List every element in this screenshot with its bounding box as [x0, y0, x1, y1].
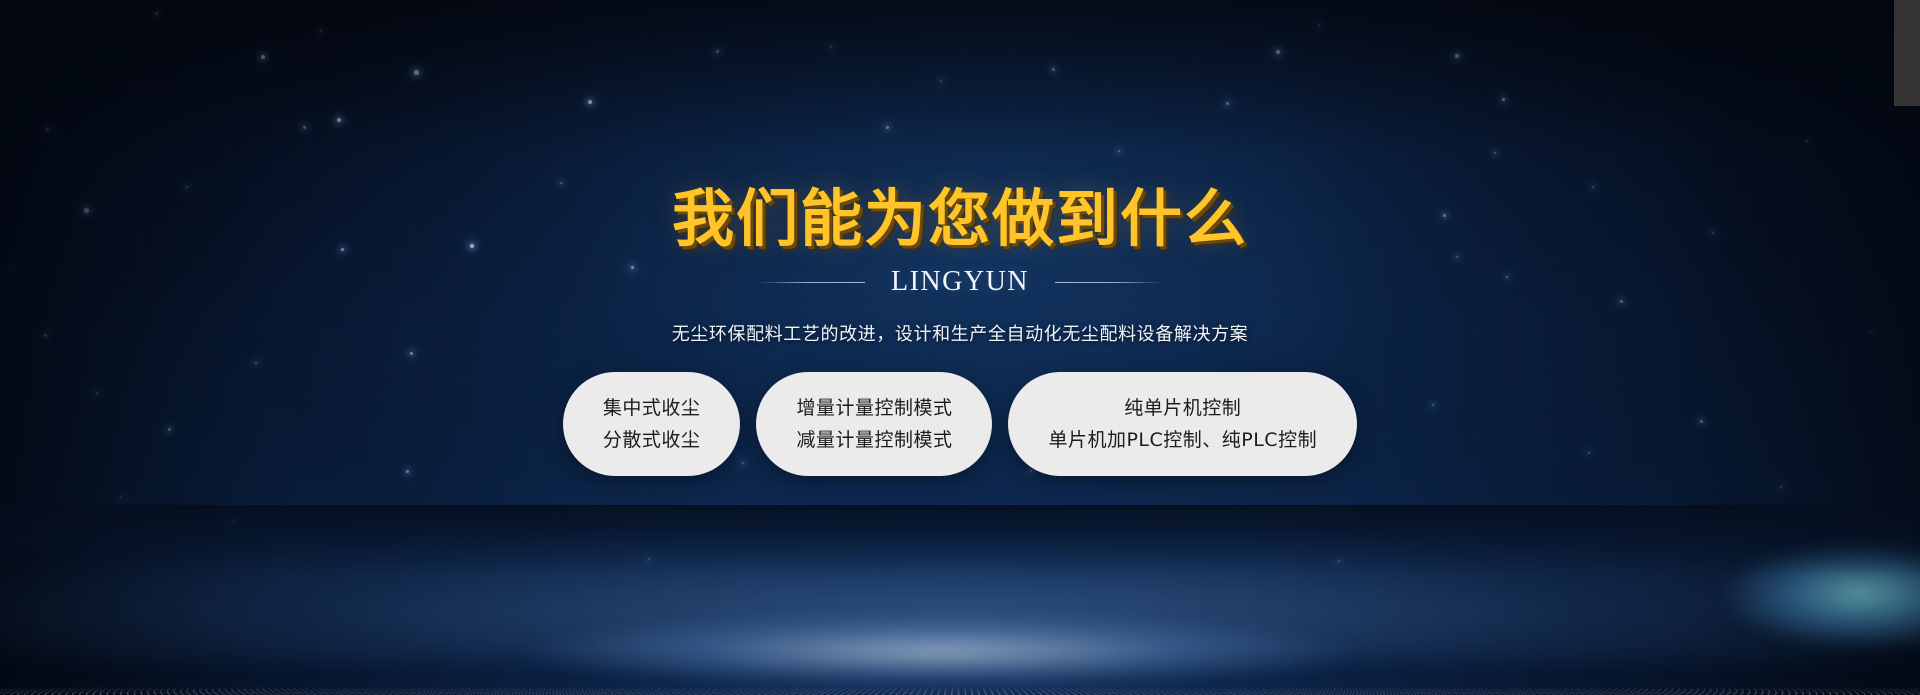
pill-line-2: 减量计量控制模式	[796, 430, 952, 451]
banner-description: 无尘环保配料工艺的改进，设计和生产全自动化无尘配料设备解决方案	[672, 320, 1249, 346]
divider-line-left	[757, 282, 865, 283]
feature-pill-group: 集中式收尘 分散式收尘 增量计量控制模式 减量计量控制模式 纯单片机控制 单片机…	[563, 372, 1357, 476]
feature-pill-dust-collection[interactable]: 集中式收尘 分散式收尘	[563, 372, 741, 476]
brand-name-en: LINGYUN	[891, 266, 1029, 298]
divider-line-right	[1055, 282, 1163, 283]
feature-pill-weighing-mode[interactable]: 增量计量控制模式 减量计量控制模式	[756, 372, 992, 476]
brand-subtitle-row: LINGYUN	[757, 266, 1163, 298]
feature-pill-control-system[interactable]: 纯单片机控制 单片机加PLC控制、纯PLC控制	[1008, 372, 1357, 476]
pill-line-1: 纯单片机控制	[1124, 398, 1241, 419]
pill-line-2: 单片机加PLC控制、纯PLC控制	[1048, 430, 1317, 451]
hero-banner: 我们能为您做到什么 LINGYUN 无尘环保配料工艺的改进，设计和生产全自动化无…	[0, 0, 1920, 695]
page-title: 我们能为您做到什么	[672, 188, 1248, 250]
pill-line-1: 集中式收尘	[603, 398, 701, 419]
page-scrollbar[interactable]	[1894, 0, 1920, 695]
pill-line-1: 增量计量控制模式	[796, 398, 952, 419]
pill-line-2: 分散式收尘	[603, 430, 701, 451]
banner-content: 我们能为您做到什么 LINGYUN 无尘环保配料工艺的改进，设计和生产全自动化无…	[0, 0, 1920, 695]
scrollbar-thumb[interactable]	[1894, 0, 1920, 106]
